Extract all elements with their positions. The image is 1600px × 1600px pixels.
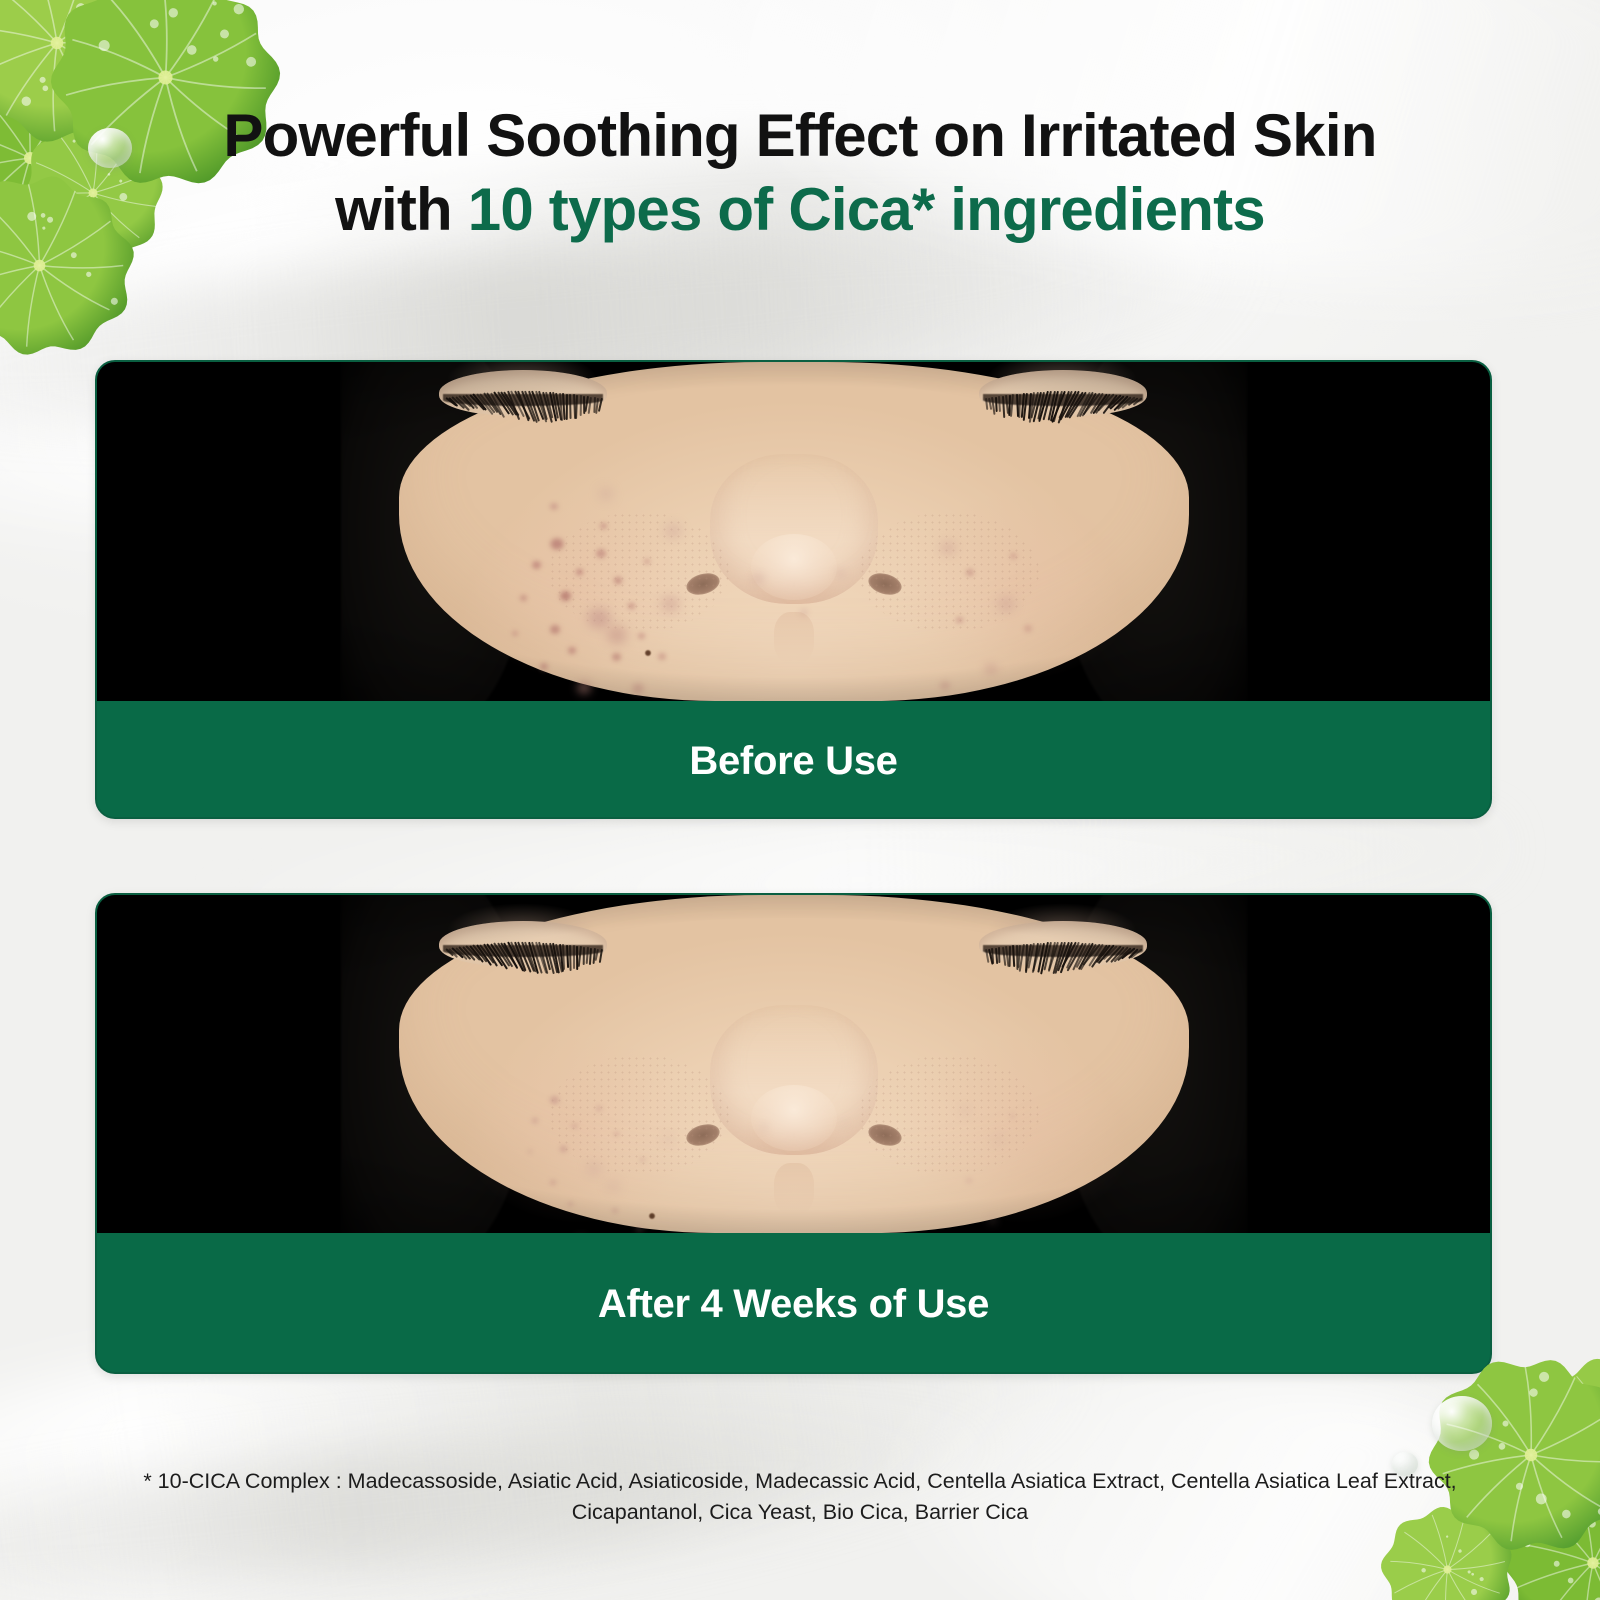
footnote-line-2: Cicapantanol, Cica Yeast, Bio Cica, Barr…	[120, 1497, 1480, 1528]
headline-line-2: with 10 types of Cica* ingredients	[0, 178, 1600, 242]
before-caption-band: Before Use	[97, 705, 1490, 817]
after-caption-label: After 4 Weeks of Use	[598, 1282, 989, 1327]
headline-prefix: with	[335, 176, 468, 243]
photo-vignette	[97, 362, 1490, 701]
after-caption-band: After 4 Weeks of Use	[97, 1237, 1490, 1372]
comparison-card-after: After 4 Weeks of Use	[95, 893, 1492, 1374]
headline-highlight: 10 types of Cica* ingredients	[468, 176, 1265, 243]
before-caption-label: Before Use	[689, 739, 897, 784]
before-photo	[97, 362, 1490, 701]
photo-vignette	[97, 895, 1490, 1233]
headline-line-1: Powerful Soothing Effect on Irritated Sk…	[0, 104, 1600, 168]
page-title: Powerful Soothing Effect on Irritated Sk…	[0, 104, 1600, 242]
comparison-card-before: Before Use	[95, 360, 1492, 819]
marketing-banner: Powerful Soothing Effect on Irritated Sk…	[0, 0, 1600, 1600]
ingredient-footnote: * 10-CICA Complex : Madecassoside, Asiat…	[120, 1466, 1480, 1528]
footnote-line-1: * 10-CICA Complex : Madecassoside, Asiat…	[120, 1466, 1480, 1497]
after-photo	[97, 895, 1490, 1233]
